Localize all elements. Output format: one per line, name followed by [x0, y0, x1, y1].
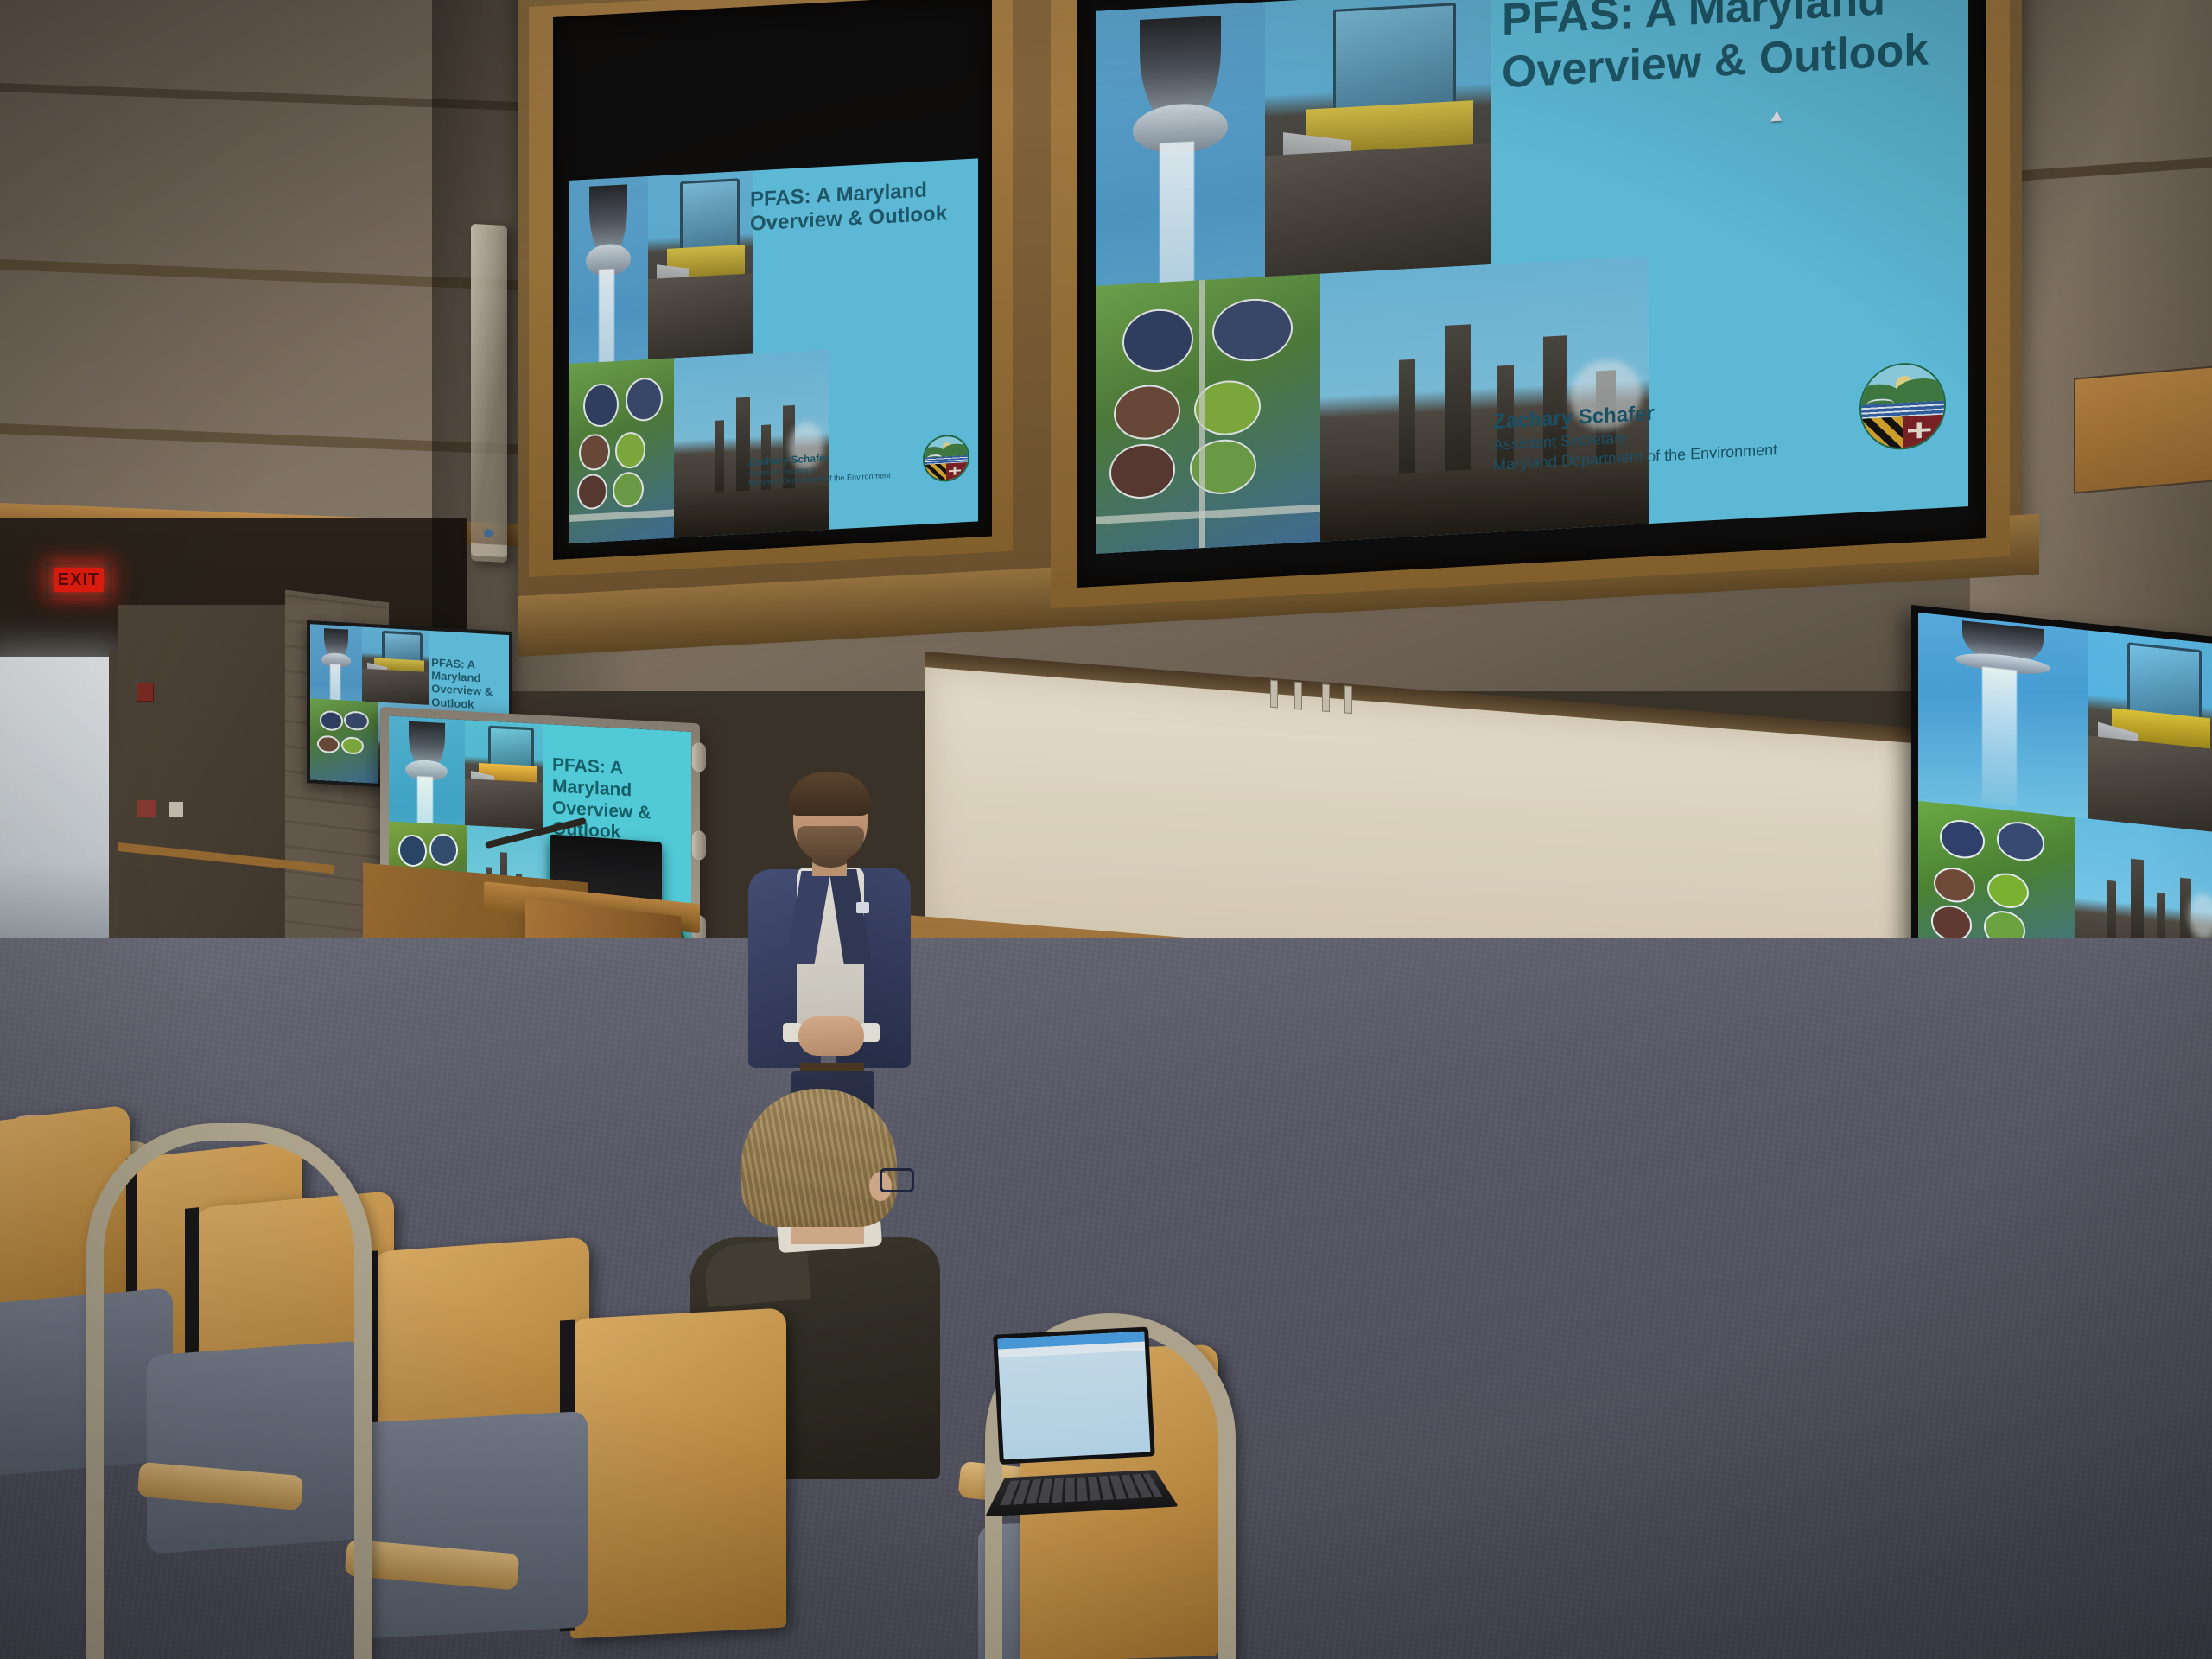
projection-screen-left[interactable]: PFAS: A Maryland Overview & Outlook Zach…	[553, 0, 992, 560]
exit-sign-label: EXIT	[58, 570, 99, 590]
marker-clip[interactable]	[1322, 683, 1330, 712]
monitor-slide-title: PFAS: A Maryland Overview & Outlook	[431, 656, 506, 713]
seat-cushion[interactable]	[354, 1411, 588, 1639]
mde-seal-logo	[923, 434, 969, 483]
slide-title: PFAS: A Maryland Overview & Outlook	[750, 176, 966, 237]
audience-laptop[interactable]	[993, 1326, 1159, 1533]
right-wall-wood-panel	[2074, 365, 2212, 493]
exit-sign: EXIT	[45, 562, 112, 598]
column-speaker	[471, 224, 507, 563]
slide-photo-refinery	[1320, 256, 1649, 542]
presenter-hands	[798, 1016, 864, 1056]
monitor-handle[interactable]	[692, 830, 706, 861]
mouse-cursor-icon	[1770, 111, 1785, 126]
auditorium-seat[interactable]	[570, 1307, 786, 1638]
slide-title: PFAS: A Maryland Overview & Outlook	[1502, 0, 1968, 100]
slide-photo-aerial-treatment-plant	[569, 358, 674, 543]
laptop-screen[interactable]	[997, 1332, 1150, 1460]
speaker-indicator-icon	[484, 529, 493, 537]
monitor-slide-title: PFAS: A Maryland Overview & Outlook	[552, 755, 685, 848]
light-switch[interactable]	[169, 802, 183, 817]
fire-alarm-icon	[137, 683, 154, 702]
aisle-handrail[interactable]	[86, 1123, 372, 1659]
eyeglasses-icon	[880, 1168, 914, 1192]
marker-clip[interactable]	[1294, 682, 1302, 710]
mde-seal-logo	[1859, 361, 1946, 452]
laptop-keyboard[interactable]	[985, 1470, 1179, 1516]
slide-photo-refinery	[674, 350, 829, 538]
slide-photo-bulldozer	[1265, 0, 1491, 276]
column-speaker-cap	[471, 543, 507, 557]
projection-screen-right[interactable]: PFAS: A Maryland Overview & Outlook Zach…	[1077, 0, 1986, 588]
slide-photo-bulldozer	[648, 170, 753, 359]
doorway-light	[0, 657, 112, 942]
wall-sign	[137, 800, 156, 817]
slide-photo-aerial-treatment-plant	[1096, 274, 1320, 554]
monitor-handle[interactable]	[692, 742, 706, 772]
marker-clip[interactable]	[1270, 680, 1278, 709]
lapel-pin-icon	[856, 902, 869, 913]
lecture-hall-photo: EXIT	[0, 0, 2212, 1659]
marker-clip[interactable]	[1344, 685, 1352, 714]
